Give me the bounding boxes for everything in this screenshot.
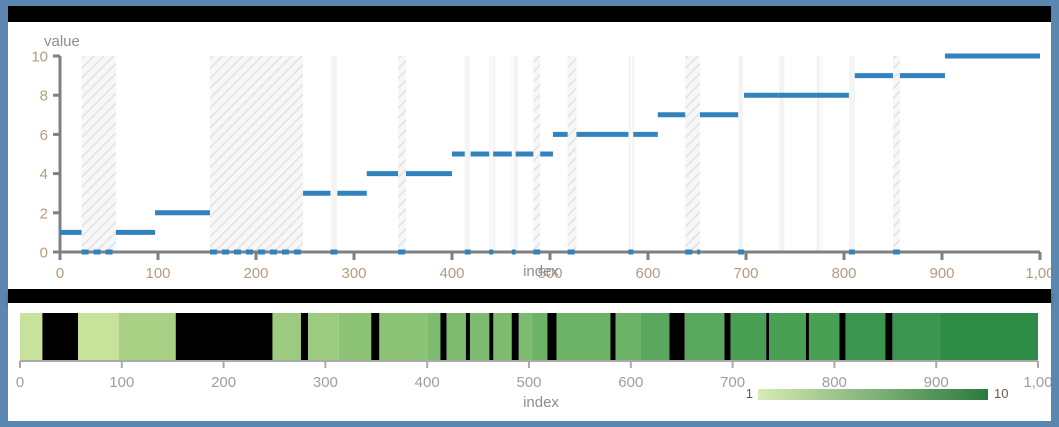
heatmap-cell — [78, 313, 119, 361]
heatmap-cell — [939, 313, 1038, 361]
heatmap-cell — [846, 313, 886, 361]
heatmap-cell — [308, 313, 339, 361]
gap-band — [685, 56, 700, 252]
heatmap-gap-cell — [176, 313, 273, 361]
heatmap-cell — [892, 313, 939, 361]
gap-band — [568, 56, 577, 252]
y-tick-label: 4 — [40, 166, 48, 183]
heatmap-cell — [532, 313, 547, 361]
x-axis-title: index — [523, 263, 559, 280]
heatmap-cell — [493, 313, 511, 361]
heatmap-x-tick-label: 800 — [822, 374, 847, 391]
heatmap-cell — [685, 313, 725, 361]
heatmap-gap-cell — [466, 313, 470, 361]
heatmap-gap-cell — [489, 313, 493, 361]
heatmap-gap-cell — [839, 313, 845, 361]
x-tick-label: 200 — [243, 265, 268, 282]
gap-band — [893, 56, 900, 252]
heatmap-cell — [20, 313, 42, 361]
heatmap-cell — [339, 313, 372, 361]
gap-band — [778, 56, 784, 252]
heatmap-x-axis-title: index — [523, 394, 559, 411]
y-tick-label: 2 — [40, 205, 48, 222]
gap-band — [398, 56, 406, 252]
x-tick-label: 100 — [145, 265, 170, 282]
gap-band — [533, 56, 540, 252]
heatmap-cell — [379, 313, 427, 361]
middle-black-separator — [8, 289, 1051, 303]
x-tick-label: 600 — [635, 265, 660, 282]
heatmap-gap-cell — [766, 313, 769, 361]
step-chart-panel: 0246810 01002003004005006007008009001,00… — [8, 22, 1051, 289]
gap-band — [738, 56, 744, 252]
legend-max-label: 10 — [994, 386, 1008, 401]
x-tick-label: 0 — [56, 265, 64, 282]
heatmap-gap-cell — [610, 313, 615, 361]
heatmap-panel: 01002003004005006007008009001,00 index 1… — [8, 303, 1051, 421]
heatmap-cell — [519, 313, 532, 361]
step-chart-svg: 0246810 01002003004005006007008009001,00… — [8, 22, 1051, 289]
heatmap-x-tick-label: 700 — [720, 374, 745, 391]
heatmap-cell — [556, 313, 610, 361]
heatmap-cell — [470, 313, 489, 361]
x-tick-label: 900 — [929, 265, 954, 282]
heatmap-svg: 01002003004005006007008009001,00 index 1… — [8, 303, 1051, 421]
legend-gradient-bar — [758, 389, 988, 400]
heatmap-x-tick-label: 500 — [516, 374, 541, 391]
y-tick-label: 8 — [40, 88, 48, 105]
heatmap-x-tick-label: 0 — [16, 374, 24, 391]
y-tick-label: 10 — [31, 49, 48, 66]
heatmap-gap-cell — [806, 313, 809, 361]
heatmap-gap-cell — [42, 313, 78, 361]
heatmap-cell — [272, 313, 301, 361]
figure-root: 0246810 01002003004005006007008009001,00… — [0, 0, 1059, 427]
heatmap-gap-cell — [301, 313, 308, 361]
x-tick-label: 300 — [341, 265, 366, 282]
heatmap-cell — [769, 313, 806, 361]
heatmap-gap-cell — [724, 313, 730, 361]
top-black-band — [8, 6, 1051, 22]
gap-band — [210, 56, 303, 252]
x-tick-label: 1,00 — [1025, 265, 1051, 282]
heatmap-cell — [616, 313, 641, 361]
gap-band — [849, 56, 855, 252]
heatmap-gap-cell — [669, 313, 684, 361]
heatmap-cell — [731, 313, 767, 361]
gap-bands-layer — [82, 56, 900, 252]
heatmap-gap-cell — [547, 313, 556, 361]
heatmap-x-tick-label: 600 — [618, 374, 643, 391]
x-tick-label: 700 — [733, 265, 758, 282]
heatmap-x-tick-label: 400 — [415, 374, 440, 391]
gap-band — [817, 56, 823, 252]
y-tick-label: 6 — [40, 127, 48, 144]
y-axis-title: value — [44, 33, 80, 50]
x-tick-label: 400 — [439, 265, 464, 282]
heatmap-x-tick-label: 300 — [313, 374, 338, 391]
heatmap-x-tick-label: 1,00 — [1023, 374, 1051, 391]
gap-band — [628, 56, 634, 252]
heatmap-gap-cell — [885, 313, 892, 361]
x-tick-label: 800 — [831, 265, 856, 282]
heatmap-x-axis-layer: 01002003004005006007008009001,00 — [16, 361, 1051, 391]
y-axis-layer: 0246810 — [31, 49, 60, 262]
gap-band — [465, 56, 471, 252]
heatmap-cell — [809, 313, 840, 361]
heatmap-gap-cell — [512, 313, 519, 361]
colorbar-legend: 1 10 — [746, 386, 1009, 401]
heatmap-x-tick-label: 100 — [109, 374, 134, 391]
legend-min-label: 1 — [746, 386, 753, 401]
heatmap-x-tick-label: 900 — [924, 374, 949, 391]
heatmap-gap-cell — [440, 313, 446, 361]
gap-band — [82, 56, 116, 252]
heatmap-x-tick-label: 200 — [211, 374, 236, 391]
heatmap-cell — [427, 313, 440, 361]
heatmap-cell — [447, 313, 466, 361]
heatmap-cell — [119, 313, 176, 361]
heatmap-cell — [641, 313, 670, 361]
gap-band — [330, 56, 337, 252]
heatmap-gap-cell — [371, 313, 379, 361]
heatmap-cells-layer — [20, 313, 1038, 361]
y-tick-label: 0 — [40, 245, 48, 262]
